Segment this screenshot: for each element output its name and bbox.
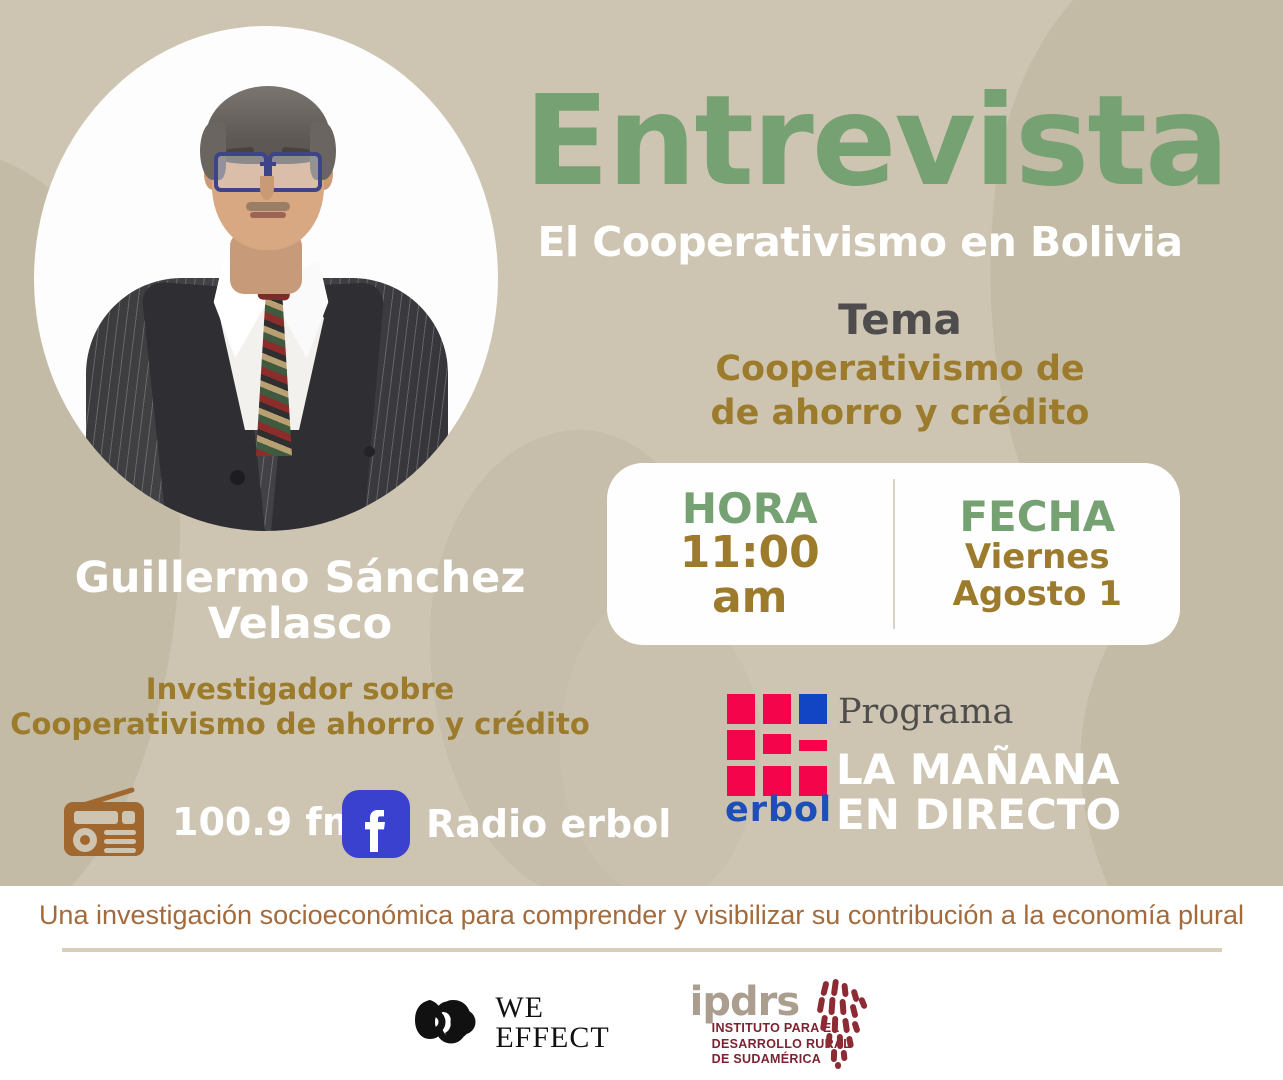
we-effect-line-1: WE [495, 993, 609, 1023]
speaker-name-line-1: Guillermo Sánchez [10, 556, 590, 602]
radio-frequency-block: 100.9 fm [58, 786, 362, 858]
facebook-page-label: Radio erbol [426, 802, 671, 846]
topic-text: Cooperativismo de de ahorro y crédito [610, 348, 1190, 436]
portrait-suit-button-secondary [364, 446, 375, 457]
erbol-logo: erbol [727, 694, 831, 826]
page-subtitle: El Cooperativismo en Bolivia [510, 218, 1210, 266]
footer-logo-row: WE EFFECT ipdrs INSTITUTO PARA EL DESARR… [0, 968, 1283, 1078]
ipdrs-wordmark: ipdrs [690, 979, 800, 1025]
date-weekday: Viernes [965, 539, 1110, 576]
portrait-moustache [246, 202, 290, 211]
speaker-name: Guillermo Sánchez Velasco [10, 556, 590, 647]
facebook-icon[interactable] [342, 790, 410, 858]
radio-frequency-label: 100.9 fm [172, 800, 362, 844]
erbol-square-r1c3-blue [799, 694, 827, 724]
eyeglass-bridge [260, 162, 276, 166]
schedule-date-block: FECHA Viernes Agosto 1 [895, 463, 1181, 645]
time-value: 11:00 [680, 531, 820, 576]
topic-label: Tema [610, 295, 1190, 344]
erbol-dash-r2c3 [799, 740, 827, 751]
speaker-role: Investigador sobre Cooperativismo de aho… [10, 672, 590, 743]
speaker-name-line-2: Velasco [10, 602, 590, 648]
program-name-line-2: EN DIRECTO [836, 793, 1121, 838]
speaker-portrait [34, 26, 498, 531]
erbol-square-r2c2 [763, 734, 791, 754]
date-value: Agosto 1 [953, 576, 1122, 613]
radio-icon [58, 786, 150, 858]
footer-divider [62, 948, 1222, 952]
speaker-role-line-1: Investigador sobre [10, 672, 590, 707]
topic-line-2: de ahorro y crédito [610, 392, 1190, 436]
page-title: Entrevista [524, 84, 1224, 199]
program-name-line-1: LA MAÑANA [836, 748, 1121, 793]
program-name: LA MAÑANA EN DIRECTO [836, 748, 1121, 838]
we-effect-logo: WE EFFECT [413, 993, 609, 1053]
footer-band: Una investigación socioeconómica para co… [0, 886, 1283, 1080]
time-meridiem: am [712, 576, 788, 621]
erbol-square-r2c1 [727, 730, 755, 760]
portrait-suit-button [230, 470, 245, 485]
eyeglass-lens-right [268, 152, 322, 192]
portrait-mouth [250, 212, 286, 218]
portrait-nose [260, 176, 274, 200]
portrait-circle-mask [34, 26, 498, 531]
schedule-time-block: HORA 11:00 am [607, 463, 893, 645]
erbol-logo-grid [727, 694, 831, 798]
erbol-square-r1c1 [727, 694, 755, 724]
erbol-wordmark: erbol [725, 790, 832, 830]
date-heading: FECHA [959, 495, 1115, 539]
schedule-card: HORA 11:00 am FECHA Viernes Agosto 1 [607, 463, 1180, 645]
promo-poster: Entrevista El Cooperativismo en Bolivia … [0, 0, 1283, 1080]
time-heading: HORA [682, 487, 818, 531]
facebook-block[interactable]: Radio erbol [342, 790, 671, 858]
speaker-role-line-2: Cooperativismo de ahorro y crédito [10, 707, 590, 742]
erbol-square-r1c2 [763, 694, 791, 724]
ipdrs-logo: ipdrs INSTITUTO PARA EL DESARROLLO RURAL… [690, 977, 870, 1069]
we-effect-line-2: EFFECT [495, 1023, 609, 1053]
we-effect-wordmark: WE EFFECT [495, 993, 609, 1053]
south-america-map-icon [810, 977, 872, 1069]
program-label: Programa [838, 692, 1013, 732]
topic-line-1: Cooperativismo de [610, 348, 1190, 392]
footer-tagline: Una investigación socioeconómica para co… [0, 900, 1283, 931]
we-effect-omega-icon [413, 998, 485, 1048]
